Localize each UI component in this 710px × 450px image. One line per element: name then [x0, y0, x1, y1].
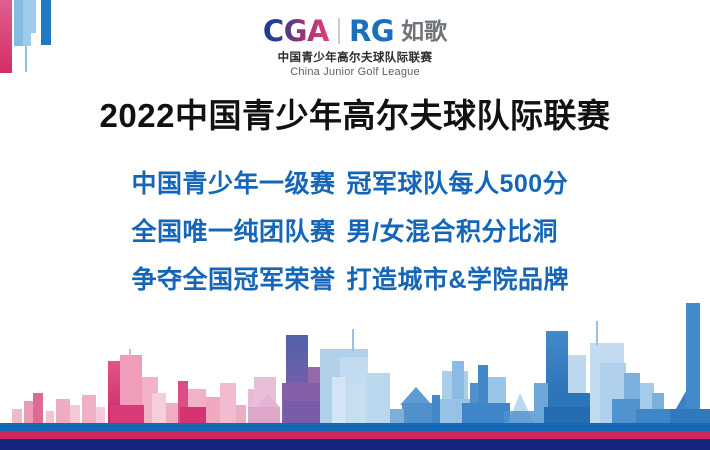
slogan-row-2: 全国唯一纯团队赛 男/女混合积分比洞	[132, 208, 579, 256]
poster-canvas: CGA RG 如歌 中国青少年高尔夫球队际联赛 China Junior Gol…	[0, 0, 710, 450]
slogan-row-1: 中国青少年一级赛 冠军球队每人500分	[132, 160, 579, 208]
bottom-color-bars	[0, 423, 710, 450]
cga-wordmark: CGA	[263, 16, 329, 46]
ruge-wordmark: 如歌	[401, 16, 447, 46]
slogan-1-left: 中国青少年一级赛	[132, 160, 347, 208]
logo-wordmark-row: CGA RG 如歌	[263, 16, 447, 46]
logo-lockup: CGA RG 如歌 中国青少年高尔夫球队际联赛 China Junior Gol…	[0, 16, 710, 78]
skyline-svg	[0, 273, 710, 423]
bottom-bar-navy	[0, 439, 710, 450]
slogan-2-right: 男/女混合积分比洞	[347, 208, 579, 256]
page-title: 2022中国青少年高尔夫球队际联赛	[0, 96, 710, 136]
slogan-1-right: 冠军球队每人500分	[347, 160, 579, 208]
logo-divider	[338, 18, 340, 44]
rg-wordmark: RG	[349, 16, 394, 46]
logo-english-name: China Junior Golf League	[290, 66, 420, 78]
slogan-2-left: 全国唯一纯团队赛	[132, 208, 347, 256]
bottom-bar-pink	[0, 431, 710, 439]
city-skyline-illustration	[0, 273, 710, 423]
logo-chinese-name: 中国青少年高尔夫球队际联赛	[278, 49, 433, 65]
bottom-bar-blue	[0, 423, 710, 431]
